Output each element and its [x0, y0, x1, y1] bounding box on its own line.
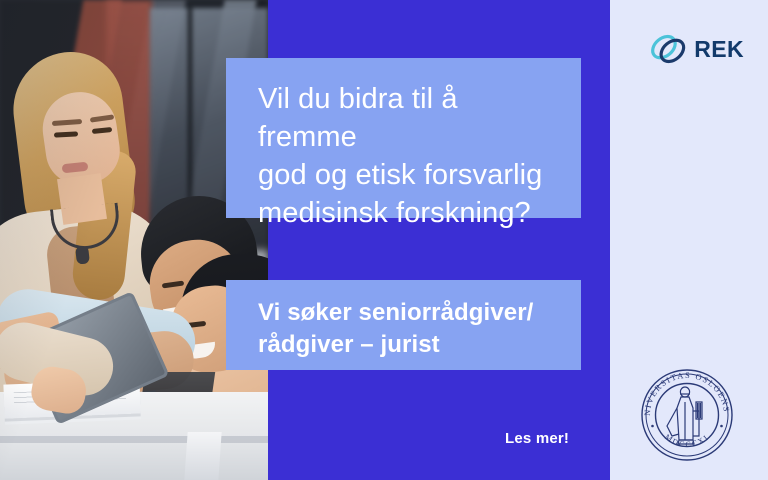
headline-line-2: god og etisk forsvarlig: [258, 159, 542, 191]
uio-seal-icon: UNIVERSITAS OSLOENSIS MDCCCXI: [636, 364, 738, 466]
rek-wordmark: REK: [694, 38, 744, 61]
photo-monitor-base: [184, 432, 221, 480]
job-title-line-1: Vi søker seniorrådgiver/: [258, 299, 533, 326]
job-title-line-2: rådgiver – jurist: [258, 331, 440, 358]
photo-person-one-pendant: [75, 245, 90, 264]
headline-card: Vil du bidra til å fremme god og etisk f…: [226, 58, 581, 218]
uio-seal-bottom-text: MDCCCXI: [663, 432, 711, 449]
uio-seal: UNIVERSITAS OSLOENSIS MDCCCXI: [636, 364, 738, 466]
photo-desk-edge: [0, 436, 268, 443]
headline-line-3: medisinsk forskning?: [258, 197, 531, 229]
rek-interlocking-rings-icon: [648, 27, 689, 71]
job-title-text: Vi søker seniorrådgiver/ rådgiver – juri…: [258, 297, 561, 361]
headline-line-1: Vil du bidra til å fremme: [258, 83, 458, 153]
job-advert-banner: Vil du bidra til å fremme god og etisk f…: [0, 0, 768, 480]
read-more-link[interactable]: Les mer!: [505, 430, 569, 447]
job-title-card: Vi søker seniorrådgiver/ rådgiver – juri…: [226, 280, 581, 370]
headline-text: Vil du bidra til å fremme god og etisk f…: [258, 80, 553, 232]
uio-seal-figure: [667, 387, 702, 444]
rek-logo[interactable]: REK: [648, 26, 744, 72]
